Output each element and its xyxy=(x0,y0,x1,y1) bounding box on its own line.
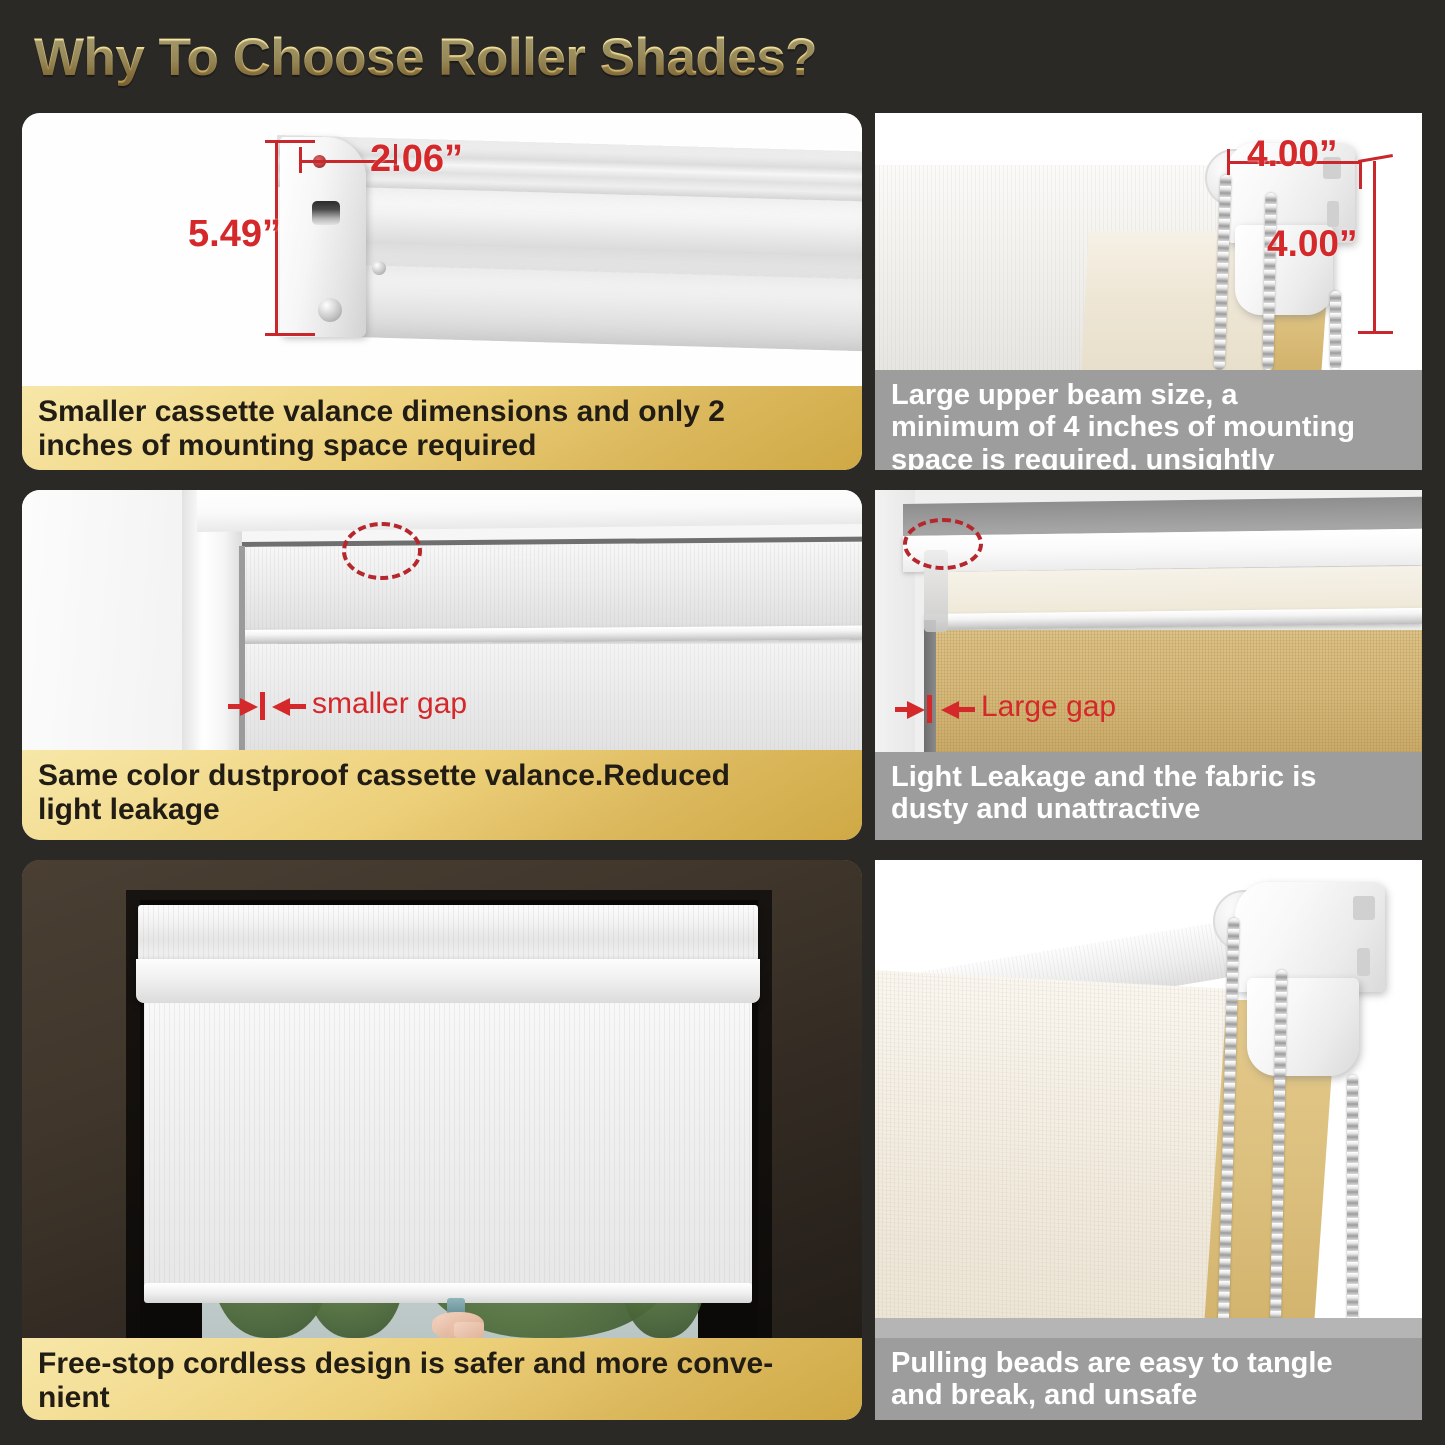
panel-3-photo: smaller gap xyxy=(22,490,862,750)
shade-left-edge xyxy=(239,546,245,750)
wrist xyxy=(454,1322,484,1338)
floor-shadow xyxy=(875,1318,1422,1338)
fabric-cream-strip xyxy=(925,566,1422,614)
cassette-valance-lip xyxy=(136,959,760,1003)
dim-tick-left xyxy=(299,147,302,173)
panel-pulling-beads: Pulling beads are easy to tangle and bre… xyxy=(875,860,1422,1420)
caption-line: light leakage xyxy=(38,793,730,827)
panel-5-photo xyxy=(22,860,862,1338)
valance-body-lower xyxy=(284,263,862,352)
shade-fabric-upper xyxy=(242,543,862,630)
bead-chain-tail xyxy=(1330,291,1341,370)
mounting-bracket-lower xyxy=(1247,978,1359,1076)
shade-fabric-main xyxy=(875,970,1230,1338)
panel-3-caption: Same color dustproof cassette valance.Re… xyxy=(22,750,862,840)
dim-label-width: 2.06” xyxy=(370,138,463,181)
cassette-mid-rail xyxy=(242,626,862,644)
caption-line: Same color dustproof cassette valance.Re… xyxy=(38,759,730,793)
panel-cordless-design: Free-stop cordless design is safer and m… xyxy=(22,860,862,1420)
bead-chain-right xyxy=(1347,1075,1358,1338)
caption-line: dusty and unattractive xyxy=(891,793,1316,825)
panel-6-caption: Pulling beads are easy to tangle and bre… xyxy=(875,1338,1422,1420)
panel-6-photo xyxy=(875,860,1422,1338)
light-gap-edge xyxy=(924,620,936,752)
cap-screw-mid xyxy=(372,261,386,275)
dim-tick-left xyxy=(1227,149,1230,175)
dim-tick-right xyxy=(1359,161,1362,189)
caption-line: Large upper beam size, a xyxy=(891,379,1355,411)
caption-line: Smaller cassette valance dimensions and … xyxy=(38,395,725,429)
cassette-valance-head xyxy=(138,905,758,961)
caption-line: and break, and unsafe xyxy=(891,1379,1333,1411)
dim-tick-bottom xyxy=(265,333,315,336)
dim-tick-bottom xyxy=(1358,331,1393,334)
caption-line: inches of mounting space required xyxy=(38,429,725,463)
bracket-notch-b xyxy=(1357,948,1370,976)
panel-dustproof-cassette: smaller gap Same color dustproof cassett… xyxy=(22,490,862,840)
gap-arrow-stem-right xyxy=(290,704,306,709)
panel-4-caption: Light Leakage and the fabric is dusty an… xyxy=(875,752,1422,840)
panel-large-upper-beam: 4.00” 4.00” Large upper beam size, a min… xyxy=(875,113,1422,470)
gap-arrow-stem-right xyxy=(959,707,975,712)
comparison-grid: 5.49” 2.06” Smaller cassette valance dim… xyxy=(0,0,1445,1445)
dim-tick-top xyxy=(265,140,315,143)
panel-1-photo: 5.49” 2.06” xyxy=(22,113,862,386)
caption-line: minimum of 4 inches of mounting xyxy=(891,411,1355,443)
cap-slot xyxy=(312,201,340,225)
cap-screw-lower xyxy=(318,298,342,322)
gap-arrow-right-icon xyxy=(240,698,258,716)
caption-line: Pulling beads are easy to tangle xyxy=(891,1347,1333,1379)
panel-2-photo: 4.00” 4.00” xyxy=(875,113,1422,370)
panel-light-leakage: Large gap Light Leakage and the fabric i… xyxy=(875,490,1422,840)
caption-line: nient xyxy=(38,1381,773,1415)
dim-label-beam-width: 4.00” xyxy=(1247,133,1338,175)
dim-line-vertical xyxy=(1373,161,1376,333)
gap-measure-bar xyxy=(260,692,265,720)
finger-thumb xyxy=(436,1316,450,1338)
caption-line: space is required, unsightly xyxy=(891,444,1355,470)
dim-label-beam-height: 4.00” xyxy=(1267,223,1358,265)
bracket-notch-a xyxy=(1353,896,1375,920)
caption-line: Light Leakage and the fabric is xyxy=(891,761,1316,793)
window-wall xyxy=(22,490,197,750)
gap-label-large: Large gap xyxy=(981,690,1116,724)
panel-2-caption: Large upper beam size, a minimum of 4 in… xyxy=(875,370,1422,470)
panel-5-caption: Free-stop cordless design is safer and m… xyxy=(22,1338,862,1420)
gap-highlight-ellipse xyxy=(903,518,983,570)
gap-arrow-left-icon xyxy=(941,701,959,719)
panel-smaller-cassette: 5.49” 2.06” Smaller cassette valance dim… xyxy=(22,113,862,470)
shade-fabric-body xyxy=(144,1003,752,1289)
gap-label-smaller: smaller gap xyxy=(312,687,467,721)
gap-measure-bar xyxy=(927,695,932,723)
gap-highlight-ellipse xyxy=(342,522,422,580)
panel-4-photo: Large gap xyxy=(875,490,1422,752)
gap-arrow-right-icon xyxy=(907,701,925,719)
dim-label-height: 5.49” xyxy=(188,213,281,256)
caption-line: Free-stop cordless design is safer and m… xyxy=(38,1347,773,1381)
window-frame-top xyxy=(197,490,862,532)
panel-1-caption: Smaller cassette valance dimensions and … xyxy=(22,386,862,470)
gap-arrow-left-icon xyxy=(272,698,290,716)
